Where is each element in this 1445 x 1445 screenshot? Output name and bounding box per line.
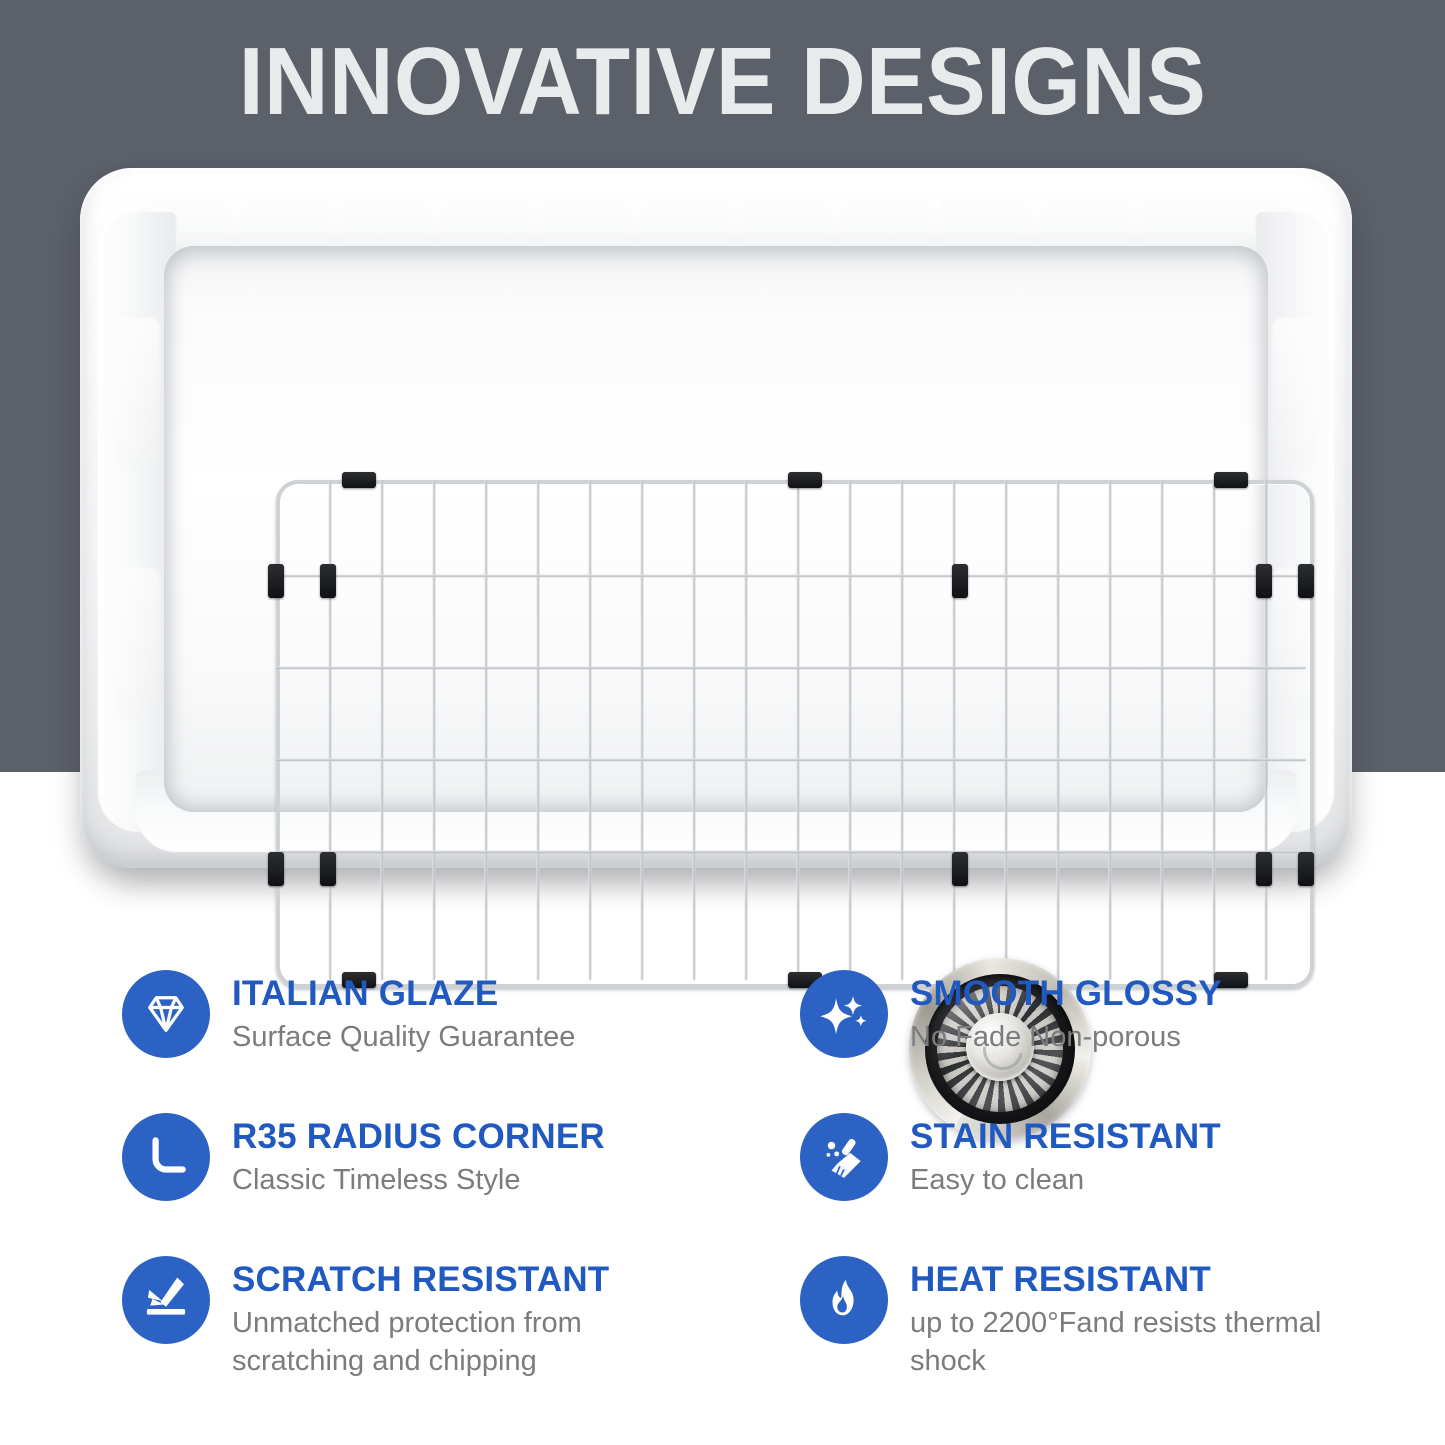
flame-icon xyxy=(800,1256,888,1344)
feature-title: SMOOTH GLOSSY xyxy=(910,974,1222,1014)
grid-wire-vertical xyxy=(484,480,488,980)
grid-wire-vertical xyxy=(1160,480,1164,980)
sparkle-icon xyxy=(800,970,888,1058)
grid-wire-horizontal xyxy=(276,758,1306,762)
grid-wire-vertical xyxy=(1264,480,1268,980)
gloss-streak xyxy=(330,196,340,248)
grid-rubber-foot xyxy=(952,852,968,886)
grid-rubber-foot xyxy=(952,564,968,598)
radius-corner-icon xyxy=(122,1113,210,1201)
feature-text: R35 RADIUS CORNER Classic Timeless Style xyxy=(232,1113,605,1199)
feature-subtitle: No Fade Non-porous xyxy=(910,1018,1222,1056)
gloss-streak xyxy=(1272,318,1316,468)
feature-title: R35 RADIUS CORNER xyxy=(232,1117,605,1157)
gloss-streak xyxy=(730,196,740,248)
scratch-icon xyxy=(122,1256,210,1344)
grid-wire-horizontal xyxy=(276,574,1306,578)
product-infographic: INNOVATIVE DESIGNS xyxy=(0,0,1445,1445)
feature-subtitle: up to 2200°Fand resists thermal shock xyxy=(910,1304,1340,1380)
grid-wire-vertical xyxy=(848,480,852,980)
broom-icon xyxy=(800,1113,888,1201)
feature-scratch-resistant: SCRATCH RESISTANT Unmatched protection f… xyxy=(122,1256,662,1380)
feature-text: SMOOTH GLOSSY No Fade Non-porous xyxy=(910,970,1222,1056)
feature-subtitle: Easy to clean xyxy=(910,1161,1221,1199)
feature-italian-glaze: ITALIAN GLAZE Surface Quality Guarantee xyxy=(122,970,575,1058)
gloss-streak xyxy=(1130,196,1140,248)
gloss-streak xyxy=(930,196,940,248)
gloss-streak xyxy=(1030,196,1040,248)
feature-heat-resistant: HEAT RESISTANT up to 2200°Fand resists t… xyxy=(800,1256,1340,1380)
feature-title: SCRATCH RESISTANT xyxy=(232,1260,662,1300)
gloss-streak xyxy=(630,196,640,248)
grid-wire-vertical xyxy=(1108,480,1112,980)
page-title: INNOVATIVE DESIGNS xyxy=(51,34,1395,130)
feature-text: HEAT RESISTANT up to 2200°Fand resists t… xyxy=(910,1256,1340,1380)
gloss-streak xyxy=(116,568,160,718)
grid-wire-vertical xyxy=(432,480,436,980)
feature-title: STAIN RESISTANT xyxy=(910,1117,1221,1157)
grid-rubber-foot xyxy=(320,852,336,886)
grid-wire-vertical xyxy=(1056,480,1060,980)
gloss-streak xyxy=(430,196,440,248)
feature-stain-resistant: STAIN RESISTANT Easy to clean xyxy=(800,1113,1221,1201)
gloss-streak xyxy=(530,196,540,248)
grid-rubber-foot xyxy=(268,852,284,886)
feature-list: ITALIAN GLAZE Surface Quality Guarantee … xyxy=(0,940,1445,1445)
grid-wire-vertical xyxy=(380,480,384,980)
grid-rubber-foot xyxy=(1214,472,1248,488)
grid-wire-vertical xyxy=(536,480,540,980)
feature-subtitle: Surface Quality Guarantee xyxy=(232,1018,575,1056)
grid-wire-vertical xyxy=(744,480,748,980)
grid-wire-vertical xyxy=(952,480,956,980)
grid-wire-horizontal xyxy=(276,666,1306,670)
feature-subtitle: Classic Timeless Style xyxy=(232,1161,605,1199)
grid-rubber-foot xyxy=(342,472,376,488)
feature-radius-corner: R35 RADIUS CORNER Classic Timeless Style xyxy=(122,1113,605,1201)
feature-text: SCRATCH RESISTANT Unmatched protection f… xyxy=(232,1256,662,1380)
gloss-streak xyxy=(230,196,240,248)
diamond-icon xyxy=(122,970,210,1058)
grid-wire-horizontal xyxy=(276,850,1306,854)
sink-product-image xyxy=(80,168,1352,880)
grid-rubber-foot xyxy=(788,472,822,488)
grid-rubber-foot xyxy=(1256,852,1272,886)
grid-wire-vertical xyxy=(588,480,592,980)
feature-title: ITALIAN GLAZE xyxy=(232,974,575,1014)
feature-smooth-glossy: SMOOTH GLOSSY No Fade Non-porous xyxy=(800,970,1222,1058)
grid-wire-vertical xyxy=(900,480,904,980)
grid-wire-vertical xyxy=(692,480,696,980)
grid-rubber-foot xyxy=(1298,564,1314,598)
grid-rubber-foot xyxy=(268,564,284,598)
grid-wire-vertical xyxy=(1004,480,1008,980)
sink-bottom-grid xyxy=(276,480,1306,980)
grid-rubber-foot xyxy=(1256,564,1272,598)
gloss-streak xyxy=(830,196,840,248)
grid-wire-vertical xyxy=(328,480,332,980)
feature-text: ITALIAN GLAZE Surface Quality Guarantee xyxy=(232,970,575,1056)
feature-text: STAIN RESISTANT Easy to clean xyxy=(910,1113,1221,1199)
grid-wire-vertical xyxy=(1212,480,1216,980)
grid-rubber-foot xyxy=(320,564,336,598)
feature-title: HEAT RESISTANT xyxy=(910,1260,1340,1300)
feature-subtitle: Unmatched protection from scratching and… xyxy=(232,1304,662,1380)
gloss-streak xyxy=(116,318,160,468)
grid-wire-vertical xyxy=(640,480,644,980)
grid-rubber-foot xyxy=(1298,852,1314,886)
grid-wire-vertical xyxy=(796,480,800,980)
